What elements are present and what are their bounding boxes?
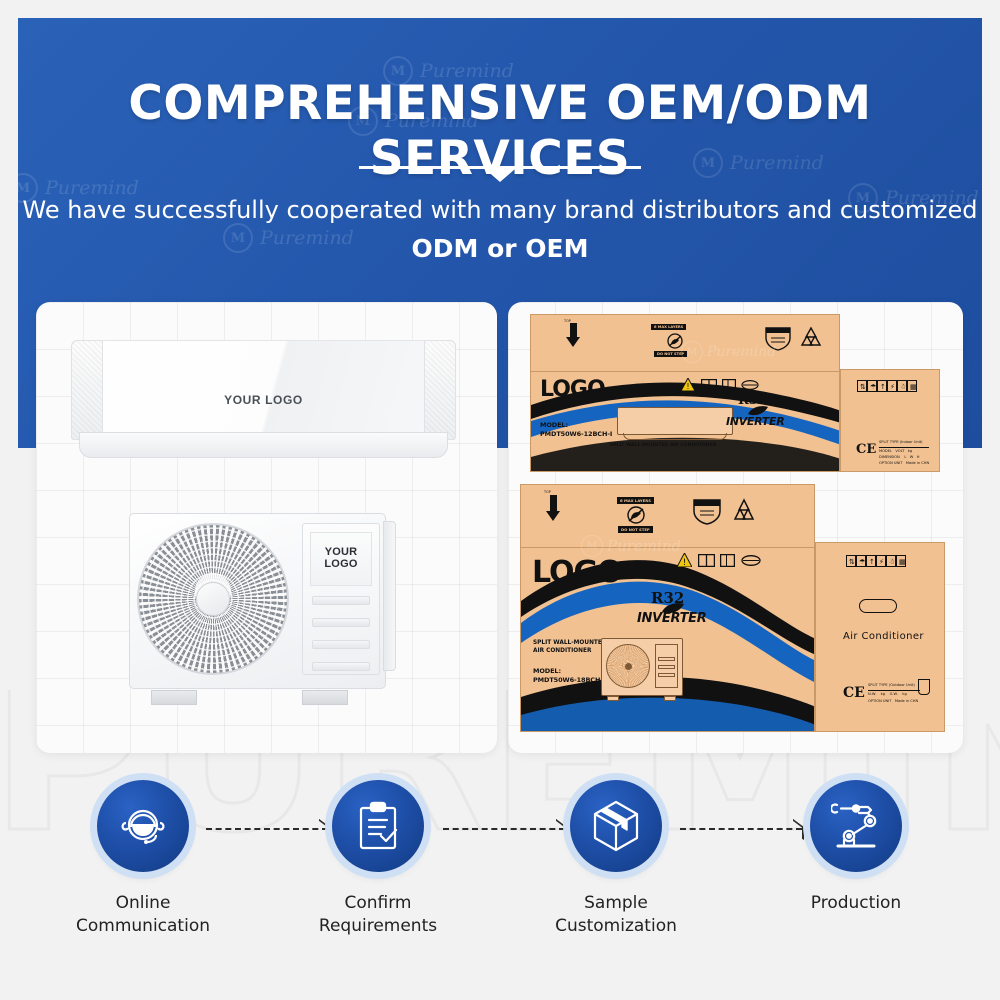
svg-text:▦: ▦ <box>899 558 906 566</box>
subtitle-line1: We have successfully cooperated with man… <box>18 196 982 224</box>
outdoor-unit-foot <box>302 690 348 705</box>
outdoor-unit-vent <box>312 618 370 627</box>
product-card-left: YOUR LOGO YOUR LOGO <box>36 302 497 753</box>
outdoor-unit-logo-line1: YOUR <box>325 546 358 558</box>
indoor-unit-logo-text: YOUR LOGO <box>71 393 456 407</box>
indoor-unit-louver <box>79 432 448 458</box>
carton-indoor-product-illustration <box>617 407 733 435</box>
process-steps: Online Communication Confirm Requirement… <box>0 780 1000 985</box>
step-label-line1: Online <box>116 893 171 913</box>
carton-outdoor-logo: LOGO <box>532 555 622 590</box>
carton-outdoor: LOGO SPLIT WALL-MOUNTED AIR CONDITIONER … <box>520 484 945 734</box>
svg-text:⚡: ⚡ <box>879 558 884 566</box>
step-online-communication[interactable]: Online Communication <box>43 780 243 937</box>
step-production[interactable]: Production <box>756 780 956 915</box>
carton-indoor-model-number: PMDT50W6-12BCH-I <box>540 430 612 438</box>
carton-outdoor-side-label: Air Conditioner <box>843 631 924 642</box>
do-not-step-icon <box>625 506 647 524</box>
carton-indoor-max-layer: 6 MAX LAYERS <box>651 324 686 330</box>
packaging-card-right: LOGO MODEL: PMDT50W6-12BCH-I SPLIT WALL-… <box>508 302 963 753</box>
carton-outdoor-do-not-step: DO NOT STEP <box>618 526 653 533</box>
step-label-line2: Communication <box>76 916 210 936</box>
warning-triangle-icon: ! <box>677 553 692 567</box>
svg-text:!: ! <box>683 558 687 567</box>
outdoor-unit-fan-grille-icon <box>137 523 289 675</box>
package-box-icon <box>591 800 641 852</box>
clipboard-check-icon <box>355 801 401 851</box>
outdoor-unit-side-cover <box>383 521 396 671</box>
handling-icons-row: ⇅☂↑ ⚡☃▦ <box>857 380 919 392</box>
step-label-line1: Sample <box>584 893 648 913</box>
outdoor-unit-vent <box>312 662 370 671</box>
carton-outdoor-model-number: PMDT50W6-18BCH-O <box>533 676 608 684</box>
carton-indoor: LOGO MODEL: PMDT50W6-12BCH-I SPLIT WALL-… <box>530 314 940 474</box>
carton-outdoor-ce-mark: CE <box>843 685 865 701</box>
outdoor-unit-foot <box>151 690 197 705</box>
step-icon-circle[interactable] <box>332 780 424 872</box>
step-label-line1: Confirm <box>344 893 411 913</box>
title-divider <box>18 166 982 192</box>
carton-indoor-face: LOGO MODEL: PMDT50W6-12BCH-I SPLIT WALL-… <box>530 314 840 472</box>
no-stack-icon <box>741 554 761 567</box>
svg-text:☂: ☂ <box>870 383 876 391</box>
indoor-unit-right-cap <box>424 340 456 440</box>
step-icon-circle[interactable] <box>97 780 189 872</box>
svg-text:⚡: ⚡ <box>890 383 895 391</box>
do-not-step-icon <box>665 333 685 349</box>
svg-text:⇅: ⇅ <box>849 558 855 566</box>
carton-indoor-side-panel: ⇅☂↑ ⚡☃▦ CE SPLIT TYPE (Indoor Unit) MODE… <box>840 369 940 472</box>
this-way-up-icon <box>546 511 560 521</box>
quality-seal-icon <box>763 325 793 351</box>
quality-seal-icon <box>691 497 723 525</box>
divider-triangle-icon <box>485 169 515 182</box>
read-manual-icon <box>701 379 717 391</box>
outdoor-unit-logo-line2: LOGO <box>324 558 357 570</box>
step-confirm-requirements[interactable]: Confirm Requirements <box>278 780 478 937</box>
step-icon-circle[interactable] <box>570 780 662 872</box>
outdoor-unit-vent <box>312 596 370 605</box>
indoor-unit-body <box>71 340 456 440</box>
svg-text:☃: ☃ <box>900 382 906 391</box>
fan-hub <box>196 582 230 616</box>
carton-indoor-do-not-step: DO NOT STEP <box>654 351 687 357</box>
svg-text:!: ! <box>686 382 689 391</box>
carton-indoor-side-code: SPLIT TYPE (Indoor Unit) <box>879 440 937 445</box>
robot-arm-icon <box>831 801 881 851</box>
subtitle-line2: ODM or OEM <box>18 234 982 263</box>
no-stack-icon <box>741 379 759 391</box>
warning-triangle-icon: ! <box>681 378 695 391</box>
brand-watermark: M Puremind <box>681 341 776 363</box>
svg-text:▦: ▦ <box>910 383 917 391</box>
outdoor-unit-vent <box>312 640 370 649</box>
carton-indoor-model-label: MODEL: <box>540 421 568 429</box>
svg-text:⇅: ⇅ <box>860 383 866 391</box>
carton-indoor-description: SPLIT WALL-MOUNTED AIR CONDITIONER <box>610 443 716 448</box>
indoor-unit-image: YOUR LOGO <box>71 340 456 462</box>
outdoor-unit-image: YOUR LOGO <box>121 507 396 707</box>
indoor-unit-left-cap <box>71 340 103 440</box>
step-sample-customization[interactable]: Sample Customization <box>516 780 716 937</box>
step-label-line2: Customization <box>555 916 677 936</box>
recycle-icon <box>797 325 825 351</box>
svg-text:☃: ☃ <box>889 557 895 566</box>
read-manual-icon <box>698 554 715 567</box>
step-icon-circle[interactable] <box>810 780 902 872</box>
info-manual-icon <box>720 554 735 567</box>
carton-indoor-logo: LOGO <box>540 377 605 402</box>
svg-text:☂: ☂ <box>859 558 865 566</box>
handling-icons-row: ⇅☂↑ ⚡☃▦ <box>846 555 908 567</box>
step-label-line1: Production <box>811 893 901 913</box>
leaf-icon <box>747 405 769 417</box>
outdoor-unit-front-panel: YOUR LOGO <box>302 523 380 675</box>
svg-text:↑: ↑ <box>869 558 875 566</box>
carton-outdoor-side-panel: ⇅☂↑ ⚡☃▦ Air Conditioner CE SPLIT TYPE (O… <box>815 542 945 732</box>
carton-outdoor-logo-placeholder <box>859 599 897 613</box>
carton-indoor-ce-mark: CE <box>856 442 876 457</box>
info-manual-icon <box>722 379 736 391</box>
fragile-icon <box>918 679 930 695</box>
headset-support-icon <box>118 801 168 851</box>
svg-text:↑: ↑ <box>880 383 886 391</box>
carton-outdoor-face: LOGO SPLIT WALL-MOUNTED AIR CONDITIONER … <box>520 484 815 732</box>
outdoor-unit-logo-plate: YOUR LOGO <box>310 532 372 586</box>
recycle-icon <box>729 497 759 525</box>
leaf-icon <box>661 602 685 615</box>
carton-outdoor-model-label: MODEL: <box>533 667 561 675</box>
carton-outdoor-description-line2: AIR CONDITIONER <box>533 648 591 654</box>
carton-outdoor-max-layer: 6 MAX LAYERS <box>617 497 654 504</box>
carton-outdoor-description-line1: SPLIT WALL-MOUNTED <box>533 640 607 646</box>
this-way-up-icon <box>566 337 580 347</box>
step-label-line2: Requirements <box>319 916 437 936</box>
